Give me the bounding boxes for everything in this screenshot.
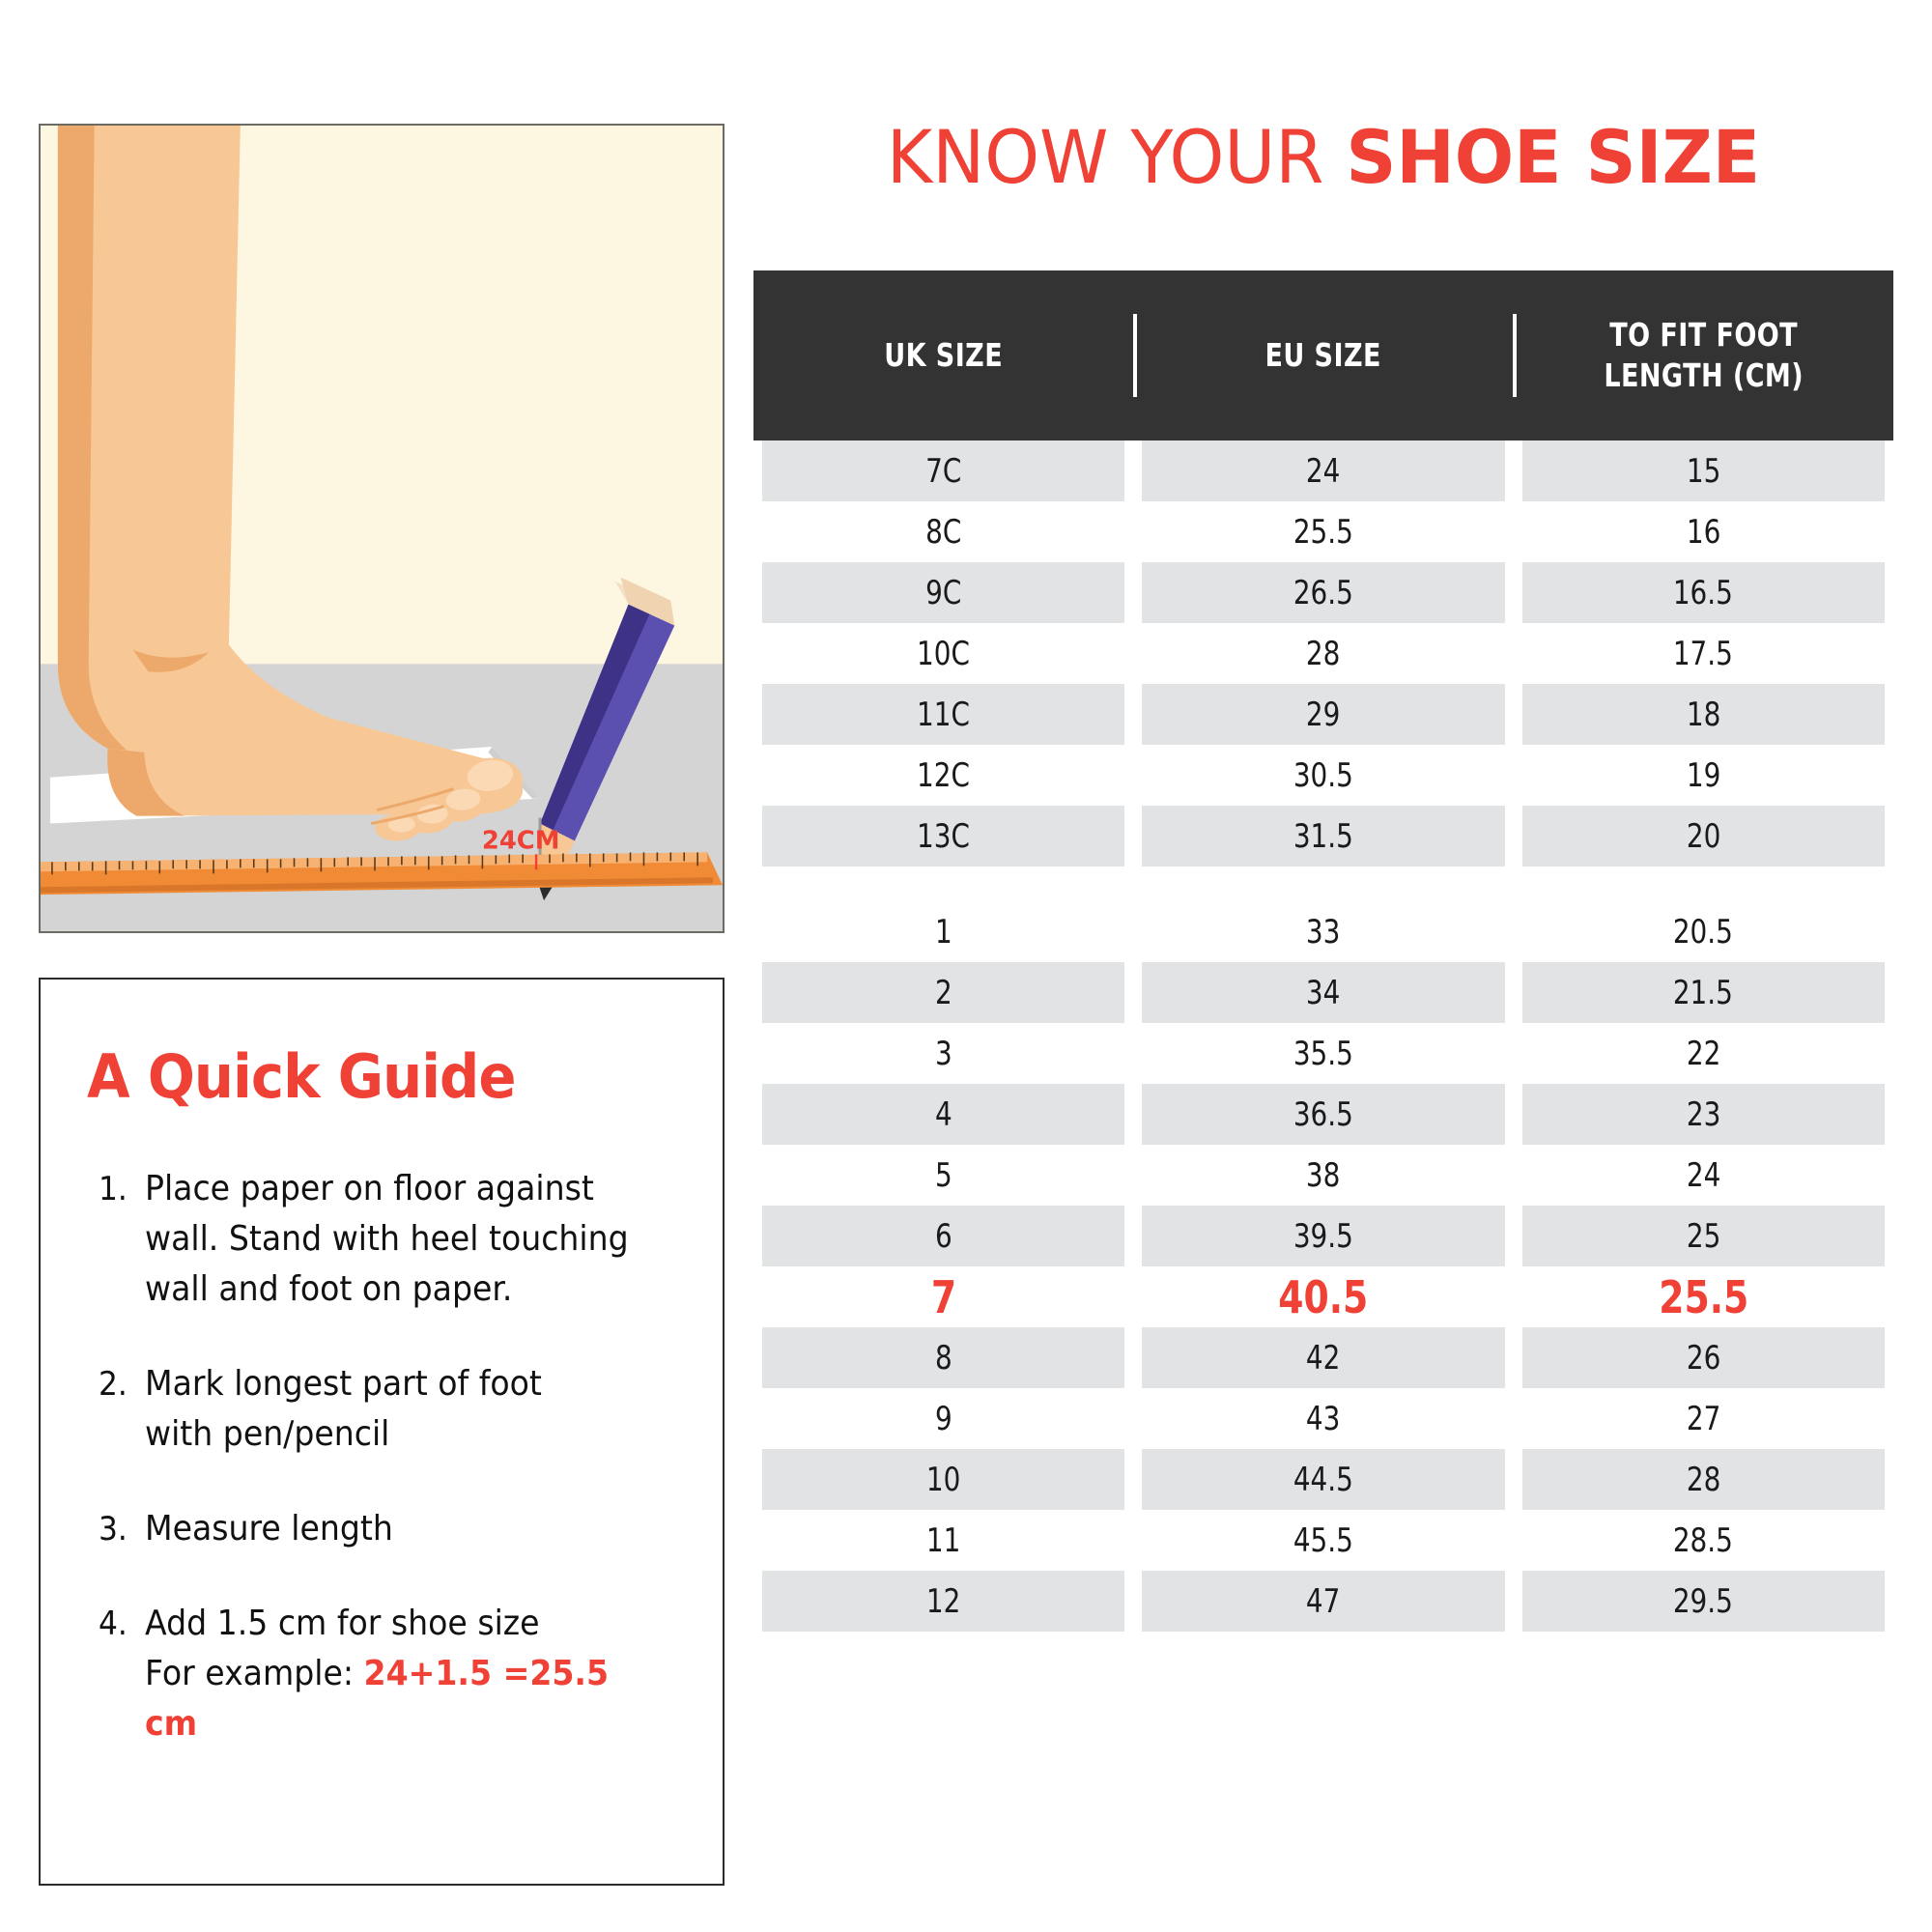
- cell-value: 18: [1687, 696, 1720, 734]
- cell-cm: 22: [1522, 1023, 1885, 1084]
- list-item-number: 4.: [99, 1599, 141, 1649]
- list-item-text: Add 1.5 cm for shoe size: [145, 1604, 540, 1643]
- cell-uk: 4: [762, 1084, 1124, 1145]
- column-header-eu-size: EU SIZE: [1168, 335, 1480, 376]
- cell-value: 30.5: [1293, 756, 1353, 795]
- cell-value: 28: [1306, 635, 1340, 673]
- header-divider-1: [1133, 314, 1137, 397]
- table-row[interactable]: 335.522: [753, 1023, 1893, 1084]
- cell-eu: 30.5: [1142, 745, 1504, 806]
- cell-uk: 9C: [762, 562, 1124, 623]
- cell-value: 45.5: [1293, 1521, 1353, 1560]
- cell-value: 2: [935, 974, 952, 1012]
- cell-cm: 29.5: [1522, 1571, 1885, 1632]
- cell-value: 1: [935, 913, 952, 952]
- page-title-bold: SHOE SIZE: [1346, 114, 1760, 200]
- cell-uk: 7: [762, 1266, 1124, 1327]
- cell-cm: 15: [1522, 440, 1885, 501]
- cell-uk: 12: [762, 1571, 1124, 1632]
- cell-value: 8: [935, 1339, 952, 1378]
- table-row[interactable]: 12C30.519: [753, 745, 1893, 806]
- cell-cm: 19: [1522, 745, 1885, 806]
- cell-cm: 28.5: [1522, 1510, 1885, 1571]
- cell-value: 22: [1687, 1035, 1720, 1073]
- cell-cm: 24: [1522, 1145, 1885, 1206]
- cell-value: 43: [1306, 1400, 1340, 1438]
- cell-eu: 28: [1142, 623, 1504, 684]
- cell-eu: 24: [1142, 440, 1504, 501]
- cell-value: 36.5: [1293, 1095, 1353, 1134]
- cell-value: 16.5: [1673, 574, 1733, 612]
- list-item-text: Place paper on floor against wall. Stand…: [145, 1164, 629, 1315]
- column-header-uk-size: UK SIZE: [787, 335, 1099, 376]
- cell-cm: 17.5: [1522, 623, 1885, 684]
- cell-cm: 26: [1522, 1327, 1885, 1388]
- cell-value: 26.5: [1293, 574, 1353, 612]
- table-row[interactable]: 23421.5: [753, 962, 1893, 1023]
- shoe-size-table: UK SIZE EU SIZE TO FIT FOOT LENGTH (CM) …: [753, 270, 1893, 1632]
- cell-uk: 12C: [762, 745, 1124, 806]
- cell-cm: 20: [1522, 806, 1885, 867]
- cell-eu: 45.5: [1142, 1510, 1504, 1571]
- list-item-number: 1.: [99, 1164, 141, 1214]
- cell-value: 24: [1687, 1156, 1720, 1195]
- cell-value: 20.5: [1673, 913, 1733, 952]
- cell-value: 42: [1306, 1339, 1340, 1378]
- cell-value: 3: [935, 1035, 952, 1073]
- table-row[interactable]: 84226: [753, 1327, 1893, 1388]
- cell-eu: 40.5: [1142, 1266, 1504, 1327]
- cell-uk: 13C: [762, 806, 1124, 867]
- table-row[interactable]: 436.523: [753, 1084, 1893, 1145]
- cell-cm: 27: [1522, 1388, 1885, 1449]
- column-header-foot-length: TO FIT FOOT LENGTH (CM): [1548, 315, 1860, 396]
- page-title-light: KNOW YOUR: [887, 114, 1346, 200]
- table-body: 7C24158C25.5169C26.516.510C2817.511C2918…: [753, 440, 1893, 1632]
- cell-value: 6: [935, 1217, 952, 1256]
- cell-cm: 16: [1522, 501, 1885, 562]
- table-row[interactable]: 1145.528.5: [753, 1510, 1893, 1571]
- cell-value: 19: [1687, 756, 1720, 795]
- quick-guide-title: A Quick Guide: [87, 1041, 678, 1112]
- cell-eu: 47: [1142, 1571, 1504, 1632]
- cell-value: 34: [1306, 974, 1340, 1012]
- table-row[interactable]: 7C2415: [753, 440, 1893, 501]
- list-item: 3. Measure length: [41, 1504, 723, 1554]
- cell-value: 25.5: [1293, 513, 1353, 552]
- cell-uk: 7C: [762, 440, 1124, 501]
- table-header-row: UK SIZE EU SIZE TO FIT FOOT LENGTH (CM): [753, 270, 1893, 440]
- cell-uk: 1: [762, 901, 1124, 962]
- cell-value: 9: [935, 1400, 952, 1438]
- cell-value: 33: [1306, 913, 1340, 952]
- cell-value: 24: [1306, 452, 1340, 491]
- table-row[interactable]: 9C26.516.5: [753, 562, 1893, 623]
- table-row[interactable]: 13320.5: [753, 901, 1893, 962]
- measurement-label: 24CM: [482, 826, 560, 855]
- cell-value: 10C: [917, 635, 970, 673]
- cell-value: 25: [1687, 1217, 1720, 1256]
- cell-value: 15: [1687, 452, 1720, 491]
- cell-uk: 8C: [762, 501, 1124, 562]
- cell-value: 8C: [925, 513, 961, 552]
- table-row[interactable]: 1044.528: [753, 1449, 1893, 1510]
- cell-value: 11: [926, 1521, 960, 1560]
- cell-uk: 8: [762, 1327, 1124, 1388]
- cell-value: 16: [1687, 513, 1720, 552]
- cell-eu: 44.5: [1142, 1449, 1504, 1510]
- cell-value: 12C: [917, 756, 970, 795]
- cell-value: 31.5: [1293, 817, 1353, 856]
- table-row[interactable]: 53824: [753, 1145, 1893, 1206]
- cell-cm: 21.5: [1522, 962, 1885, 1023]
- list-item: 2. Mark longest part of foot with pen/pe…: [41, 1359, 723, 1460]
- example-prefix: For example:: [145, 1654, 364, 1693]
- cell-value: 38: [1306, 1156, 1340, 1195]
- cell-uk: 11C: [762, 684, 1124, 745]
- cell-uk: 6: [762, 1206, 1124, 1266]
- list-item: 1. Place paper on floor against wall. St…: [41, 1164, 723, 1315]
- cell-eu: 34: [1142, 962, 1504, 1023]
- cell-value: 12: [926, 1582, 960, 1621]
- cell-cm: 28: [1522, 1449, 1885, 1510]
- cell-cm: 25: [1522, 1206, 1885, 1266]
- cell-cm: 20.5: [1522, 901, 1885, 962]
- cell-value: 23: [1687, 1095, 1720, 1134]
- illustration-svg: 24CM: [41, 126, 723, 931]
- cell-cm: 18: [1522, 684, 1885, 745]
- cell-eu: 26.5: [1142, 562, 1504, 623]
- cell-value: 28: [1687, 1461, 1720, 1499]
- cell-value: 25.5: [1659, 1271, 1748, 1323]
- cell-eu: 36.5: [1142, 1084, 1504, 1145]
- quick-guide-panel: A Quick Guide 1. Place paper on floor ag…: [39, 978, 724, 1886]
- cell-eu: 29: [1142, 684, 1504, 745]
- list-item-number: 3.: [99, 1504, 141, 1554]
- cell-cm: 16.5: [1522, 562, 1885, 623]
- cell-uk: 3: [762, 1023, 1124, 1084]
- cell-value: 39.5: [1293, 1217, 1353, 1256]
- table-row[interactable]: 10C2817.5: [753, 623, 1893, 684]
- page-title: KNOW YOUR SHOE SIZE: [782, 114, 1865, 200]
- cell-value: 11C: [917, 696, 970, 734]
- cell-cm: 23: [1522, 1084, 1885, 1145]
- foot-measurement-illustration: 24CM: [39, 124, 724, 933]
- cell-value: 10: [926, 1461, 960, 1499]
- table-row[interactable]: 11C2918: [753, 684, 1893, 745]
- cell-value: 9C: [925, 574, 961, 612]
- cell-value: 4: [935, 1095, 952, 1134]
- cell-value: 13C: [917, 817, 970, 856]
- list-item-number: 2.: [99, 1359, 141, 1409]
- cell-eu: 38: [1142, 1145, 1504, 1206]
- table-row-highlighted[interactable]: 740.525.5: [753, 1266, 1893, 1327]
- cell-eu: 43: [1142, 1388, 1504, 1449]
- cell-value: 44.5: [1293, 1461, 1353, 1499]
- quick-guide-list: 1. Place paper on floor against wall. St…: [41, 1164, 723, 1749]
- cell-eu: 39.5: [1142, 1206, 1504, 1266]
- shoe-size-chart-page: 24CM: [0, 0, 1932, 1932]
- cell-value: 28.5: [1673, 1521, 1733, 1560]
- cell-uk: 10: [762, 1449, 1124, 1510]
- cell-value: 27: [1687, 1400, 1720, 1438]
- list-item-text: Mark longest part of foot with pen/penci…: [145, 1359, 542, 1460]
- cell-uk: 10C: [762, 623, 1124, 684]
- cell-eu: 25.5: [1142, 501, 1504, 562]
- table-row[interactable]: 8C25.516: [753, 501, 1893, 562]
- cell-value: 17.5: [1673, 635, 1733, 673]
- cell-value: 7C: [925, 452, 961, 491]
- cell-value: 29: [1306, 696, 1340, 734]
- cell-eu: 31.5: [1142, 806, 1504, 867]
- cell-eu: 33: [1142, 901, 1504, 962]
- cell-value: 47: [1306, 1582, 1340, 1621]
- cell-uk: 2: [762, 962, 1124, 1023]
- cell-value: 29.5: [1673, 1582, 1733, 1621]
- table-row[interactable]: 13C31.520: [753, 806, 1893, 867]
- table-section-gap: [753, 867, 1893, 901]
- cell-value: 21.5: [1673, 974, 1733, 1012]
- table-row[interactable]: 124729.5: [753, 1571, 1893, 1632]
- list-item-text-group: Add 1.5 cm for shoe sizeFor example: 24+…: [145, 1599, 636, 1749]
- cell-value: 5: [935, 1156, 952, 1195]
- cell-value: 40.5: [1278, 1271, 1368, 1323]
- cell-uk: 11: [762, 1510, 1124, 1571]
- cell-uk: 9: [762, 1388, 1124, 1449]
- table-row[interactable]: 639.525: [753, 1206, 1893, 1266]
- table-row[interactable]: 94327: [753, 1388, 1893, 1449]
- header-divider-2: [1513, 314, 1517, 397]
- cell-uk: 5: [762, 1145, 1124, 1206]
- cell-eu: 35.5: [1142, 1023, 1504, 1084]
- cell-value: 35.5: [1293, 1035, 1353, 1073]
- cell-cm: 25.5: [1522, 1266, 1885, 1327]
- list-item-text: Measure length: [145, 1504, 393, 1554]
- cell-value: 7: [931, 1271, 956, 1323]
- cell-eu: 42: [1142, 1327, 1504, 1388]
- list-item: 4. Add 1.5 cm for shoe sizeFor example: …: [41, 1599, 723, 1749]
- cell-value: 20: [1687, 817, 1720, 856]
- cell-value: 26: [1687, 1339, 1720, 1378]
